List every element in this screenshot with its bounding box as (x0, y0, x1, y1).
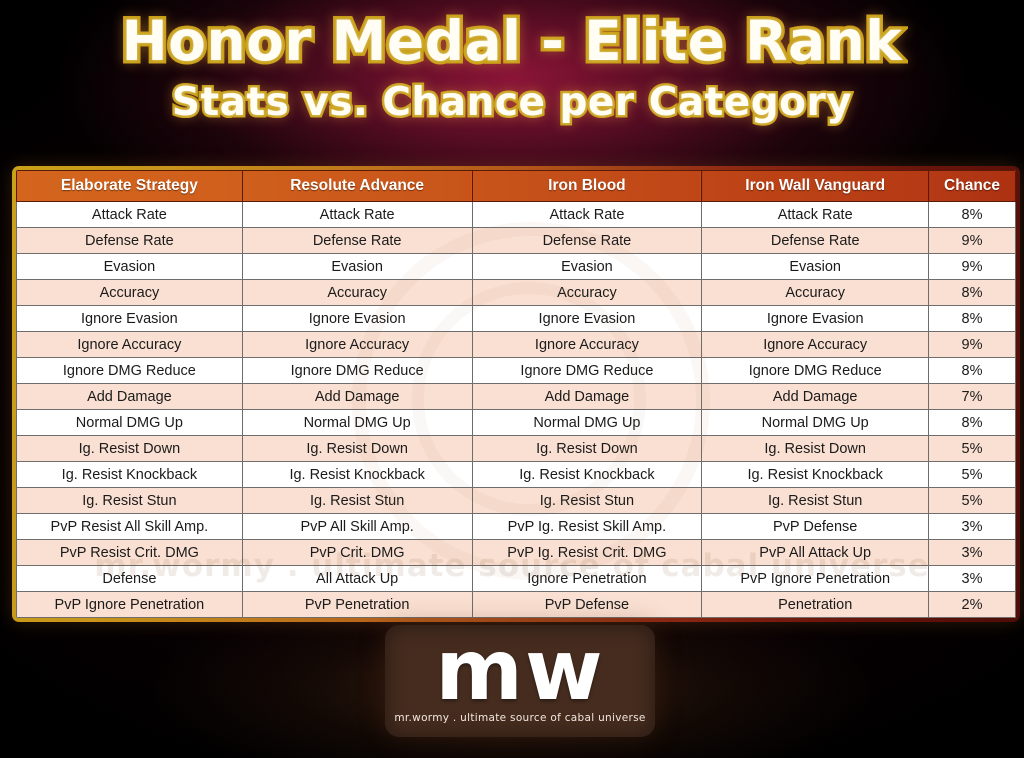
cell-iron-blood: Ig. Resist Stun (472, 488, 702, 514)
cell-chance: 9% (929, 228, 1016, 254)
cell-elaborate-strategy: Ig. Resist Down (17, 436, 243, 462)
cell-elaborate-strategy: Defense Rate (17, 228, 243, 254)
cell-resolute-advance: PvP Penetration (242, 592, 472, 618)
cell-elaborate-strategy: PvP Ignore Penetration (17, 592, 243, 618)
cell-iron-wall-vanguard: Ig. Resist Stun (702, 488, 929, 514)
cell-iron-blood: Ignore DMG Reduce (472, 358, 702, 384)
cell-iron-blood: PvP Ig. Resist Skill Amp. (472, 514, 702, 540)
cell-resolute-advance: Ig. Resist Down (242, 436, 472, 462)
cell-chance: 8% (929, 306, 1016, 332)
table-row: Ig. Resist KnockbackIg. Resist Knockback… (17, 462, 1016, 488)
cell-chance: 3% (929, 514, 1016, 540)
cell-elaborate-strategy: Ignore Accuracy (17, 332, 243, 358)
cell-iron-wall-vanguard: Ignore Evasion (702, 306, 929, 332)
cell-elaborate-strategy: Ig. Resist Knockback (17, 462, 243, 488)
cell-resolute-advance: Ig. Resist Knockback (242, 462, 472, 488)
page-title: Honor Medal - Elite Rank Honor Medal - E… (122, 14, 903, 69)
cell-iron-wall-vanguard: Attack Rate (702, 202, 929, 228)
poster-canvas: Honor Medal - Elite Rank Honor Medal - E… (0, 0, 1024, 758)
column-header-elaborate-strategy[interactable]: Elaborate Strategy (17, 171, 243, 202)
brand-logo: mw mr.wormy . ultimate source of cabal u… (385, 625, 655, 737)
cell-resolute-advance: PvP All Skill Amp. (242, 514, 472, 540)
cell-elaborate-strategy: PvP Resist Crit. DMG (17, 540, 243, 566)
cell-iron-wall-vanguard: Penetration (702, 592, 929, 618)
cell-elaborate-strategy: Ignore DMG Reduce (17, 358, 243, 384)
table-row: Normal DMG UpNormal DMG UpNormal DMG UpN… (17, 410, 1016, 436)
cell-iron-blood: PvP Defense (472, 592, 702, 618)
page-subtitle-text: Stats vs. Chance per Category (172, 80, 852, 125)
cell-resolute-advance: Normal DMG Up (242, 410, 472, 436)
cell-resolute-advance: Evasion (242, 254, 472, 280)
cell-chance: 5% (929, 488, 1016, 514)
cell-resolute-advance: Ignore Accuracy (242, 332, 472, 358)
cell-iron-blood: Normal DMG Up (472, 410, 702, 436)
cell-chance: 9% (929, 332, 1016, 358)
stats-table-frame: mr.wormy . ultimate source of cabal univ… (12, 166, 1020, 622)
stats-table: Elaborate Strategy Resolute Advance Iron… (16, 170, 1016, 618)
cell-resolute-advance: Add Damage (242, 384, 472, 410)
column-header-iron-wall-vanguard[interactable]: Iron Wall Vanguard (702, 171, 929, 202)
table-row: Defense RateDefense RateDefense RateDefe… (17, 228, 1016, 254)
table-row: PvP Resist All Skill Amp.PvP All Skill A… (17, 514, 1016, 540)
page-subtitle: Stats vs. Chance per Category Stats vs. … (172, 83, 852, 122)
cell-iron-wall-vanguard: Ignore Accuracy (702, 332, 929, 358)
table-row: Attack RateAttack RateAttack RateAttack … (17, 202, 1016, 228)
header-row: Elaborate Strategy Resolute Advance Iron… (17, 171, 1016, 202)
column-header-iron-blood[interactable]: Iron Blood (472, 171, 702, 202)
table-row: DefenseAll Attack UpIgnore PenetrationPv… (17, 566, 1016, 592)
logo-mark-text: mw (435, 636, 604, 705)
cell-iron-blood: PvP Ig. Resist Crit. DMG (472, 540, 702, 566)
cell-elaborate-strategy: PvP Resist All Skill Amp. (17, 514, 243, 540)
cell-elaborate-strategy: Accuracy (17, 280, 243, 306)
table-row: PvP Ignore PenetrationPvP PenetrationPvP… (17, 592, 1016, 618)
cell-iron-blood: Ig. Resist Down (472, 436, 702, 462)
cell-chance: 5% (929, 462, 1016, 488)
stats-table-header: Elaborate Strategy Resolute Advance Iron… (17, 171, 1016, 202)
cell-iron-blood: Defense Rate (472, 228, 702, 254)
cell-resolute-advance: Defense Rate (242, 228, 472, 254)
cell-iron-wall-vanguard: PvP All Attack Up (702, 540, 929, 566)
cell-resolute-advance: Accuracy (242, 280, 472, 306)
cell-iron-wall-vanguard: Ig. Resist Down (702, 436, 929, 462)
stats-table-body: Attack RateAttack RateAttack RateAttack … (17, 202, 1016, 618)
cell-iron-wall-vanguard: Evasion (702, 254, 929, 280)
table-row: PvP Resist Crit. DMGPvP Crit. DMGPvP Ig.… (17, 540, 1016, 566)
cell-elaborate-strategy: Ig. Resist Stun (17, 488, 243, 514)
cell-iron-wall-vanguard: Normal DMG Up (702, 410, 929, 436)
cell-resolute-advance: Ignore DMG Reduce (242, 358, 472, 384)
title-block: Honor Medal - Elite Rank Honor Medal - E… (0, 14, 1024, 122)
cell-iron-wall-vanguard: Accuracy (702, 280, 929, 306)
table-row: Ig. Resist StunIg. Resist StunIg. Resist… (17, 488, 1016, 514)
table-row: Ignore EvasionIgnore EvasionIgnore Evasi… (17, 306, 1016, 332)
cell-resolute-advance: Ignore Evasion (242, 306, 472, 332)
cell-chance: 8% (929, 202, 1016, 228)
cell-iron-blood: Ig. Resist Knockback (472, 462, 702, 488)
cell-resolute-advance: Attack Rate (242, 202, 472, 228)
cell-elaborate-strategy: Attack Rate (17, 202, 243, 228)
cell-chance: 3% (929, 566, 1016, 592)
cell-iron-blood: Ignore Accuracy (472, 332, 702, 358)
cell-elaborate-strategy: Evasion (17, 254, 243, 280)
cell-iron-blood: Add Damage (472, 384, 702, 410)
cell-iron-wall-vanguard: PvP Defense (702, 514, 929, 540)
cell-elaborate-strategy: Ignore Evasion (17, 306, 243, 332)
cell-chance: 5% (929, 436, 1016, 462)
cell-elaborate-strategy: Add Damage (17, 384, 243, 410)
cell-elaborate-strategy: Defense (17, 566, 243, 592)
cell-iron-blood: Ignore Penetration (472, 566, 702, 592)
table-row: Ignore DMG ReduceIgnore DMG ReduceIgnore… (17, 358, 1016, 384)
cell-iron-blood: Ignore Evasion (472, 306, 702, 332)
table-row: Ignore AccuracyIgnore AccuracyIgnore Acc… (17, 332, 1016, 358)
cell-iron-wall-vanguard: Add Damage (702, 384, 929, 410)
cell-iron-wall-vanguard: Defense Rate (702, 228, 929, 254)
table-row: AccuracyAccuracyAccuracyAccuracy8% (17, 280, 1016, 306)
cell-resolute-advance: PvP Crit. DMG (242, 540, 472, 566)
cell-chance: 7% (929, 384, 1016, 410)
cell-chance: 9% (929, 254, 1016, 280)
cell-chance: 8% (929, 358, 1016, 384)
table-row: Ig. Resist DownIg. Resist DownIg. Resist… (17, 436, 1016, 462)
table-row: Add DamageAdd DamageAdd DamageAdd Damage… (17, 384, 1016, 410)
column-header-chance[interactable]: Chance (929, 171, 1016, 202)
cell-iron-wall-vanguard: Ig. Resist Knockback (702, 462, 929, 488)
cell-resolute-advance: Ig. Resist Stun (242, 488, 472, 514)
cell-iron-wall-vanguard: PvP Ignore Penetration (702, 566, 929, 592)
cell-iron-wall-vanguard: Ignore DMG Reduce (702, 358, 929, 384)
table-row: EvasionEvasionEvasionEvasion9% (17, 254, 1016, 280)
cell-iron-blood: Accuracy (472, 280, 702, 306)
cell-resolute-advance: All Attack Up (242, 566, 472, 592)
cell-chance: 8% (929, 410, 1016, 436)
cell-iron-blood: Evasion (472, 254, 702, 280)
cell-chance: 8% (929, 280, 1016, 306)
cell-chance: 3% (929, 540, 1016, 566)
cell-iron-blood: Attack Rate (472, 202, 702, 228)
page-title-text: Honor Medal - Elite Rank (122, 9, 903, 73)
cell-elaborate-strategy: Normal DMG Up (17, 410, 243, 436)
cell-chance: 2% (929, 592, 1016, 618)
logo-tagline: mr.wormy . ultimate source of cabal univ… (394, 712, 645, 724)
column-header-resolute-advance[interactable]: Resolute Advance (242, 171, 472, 202)
